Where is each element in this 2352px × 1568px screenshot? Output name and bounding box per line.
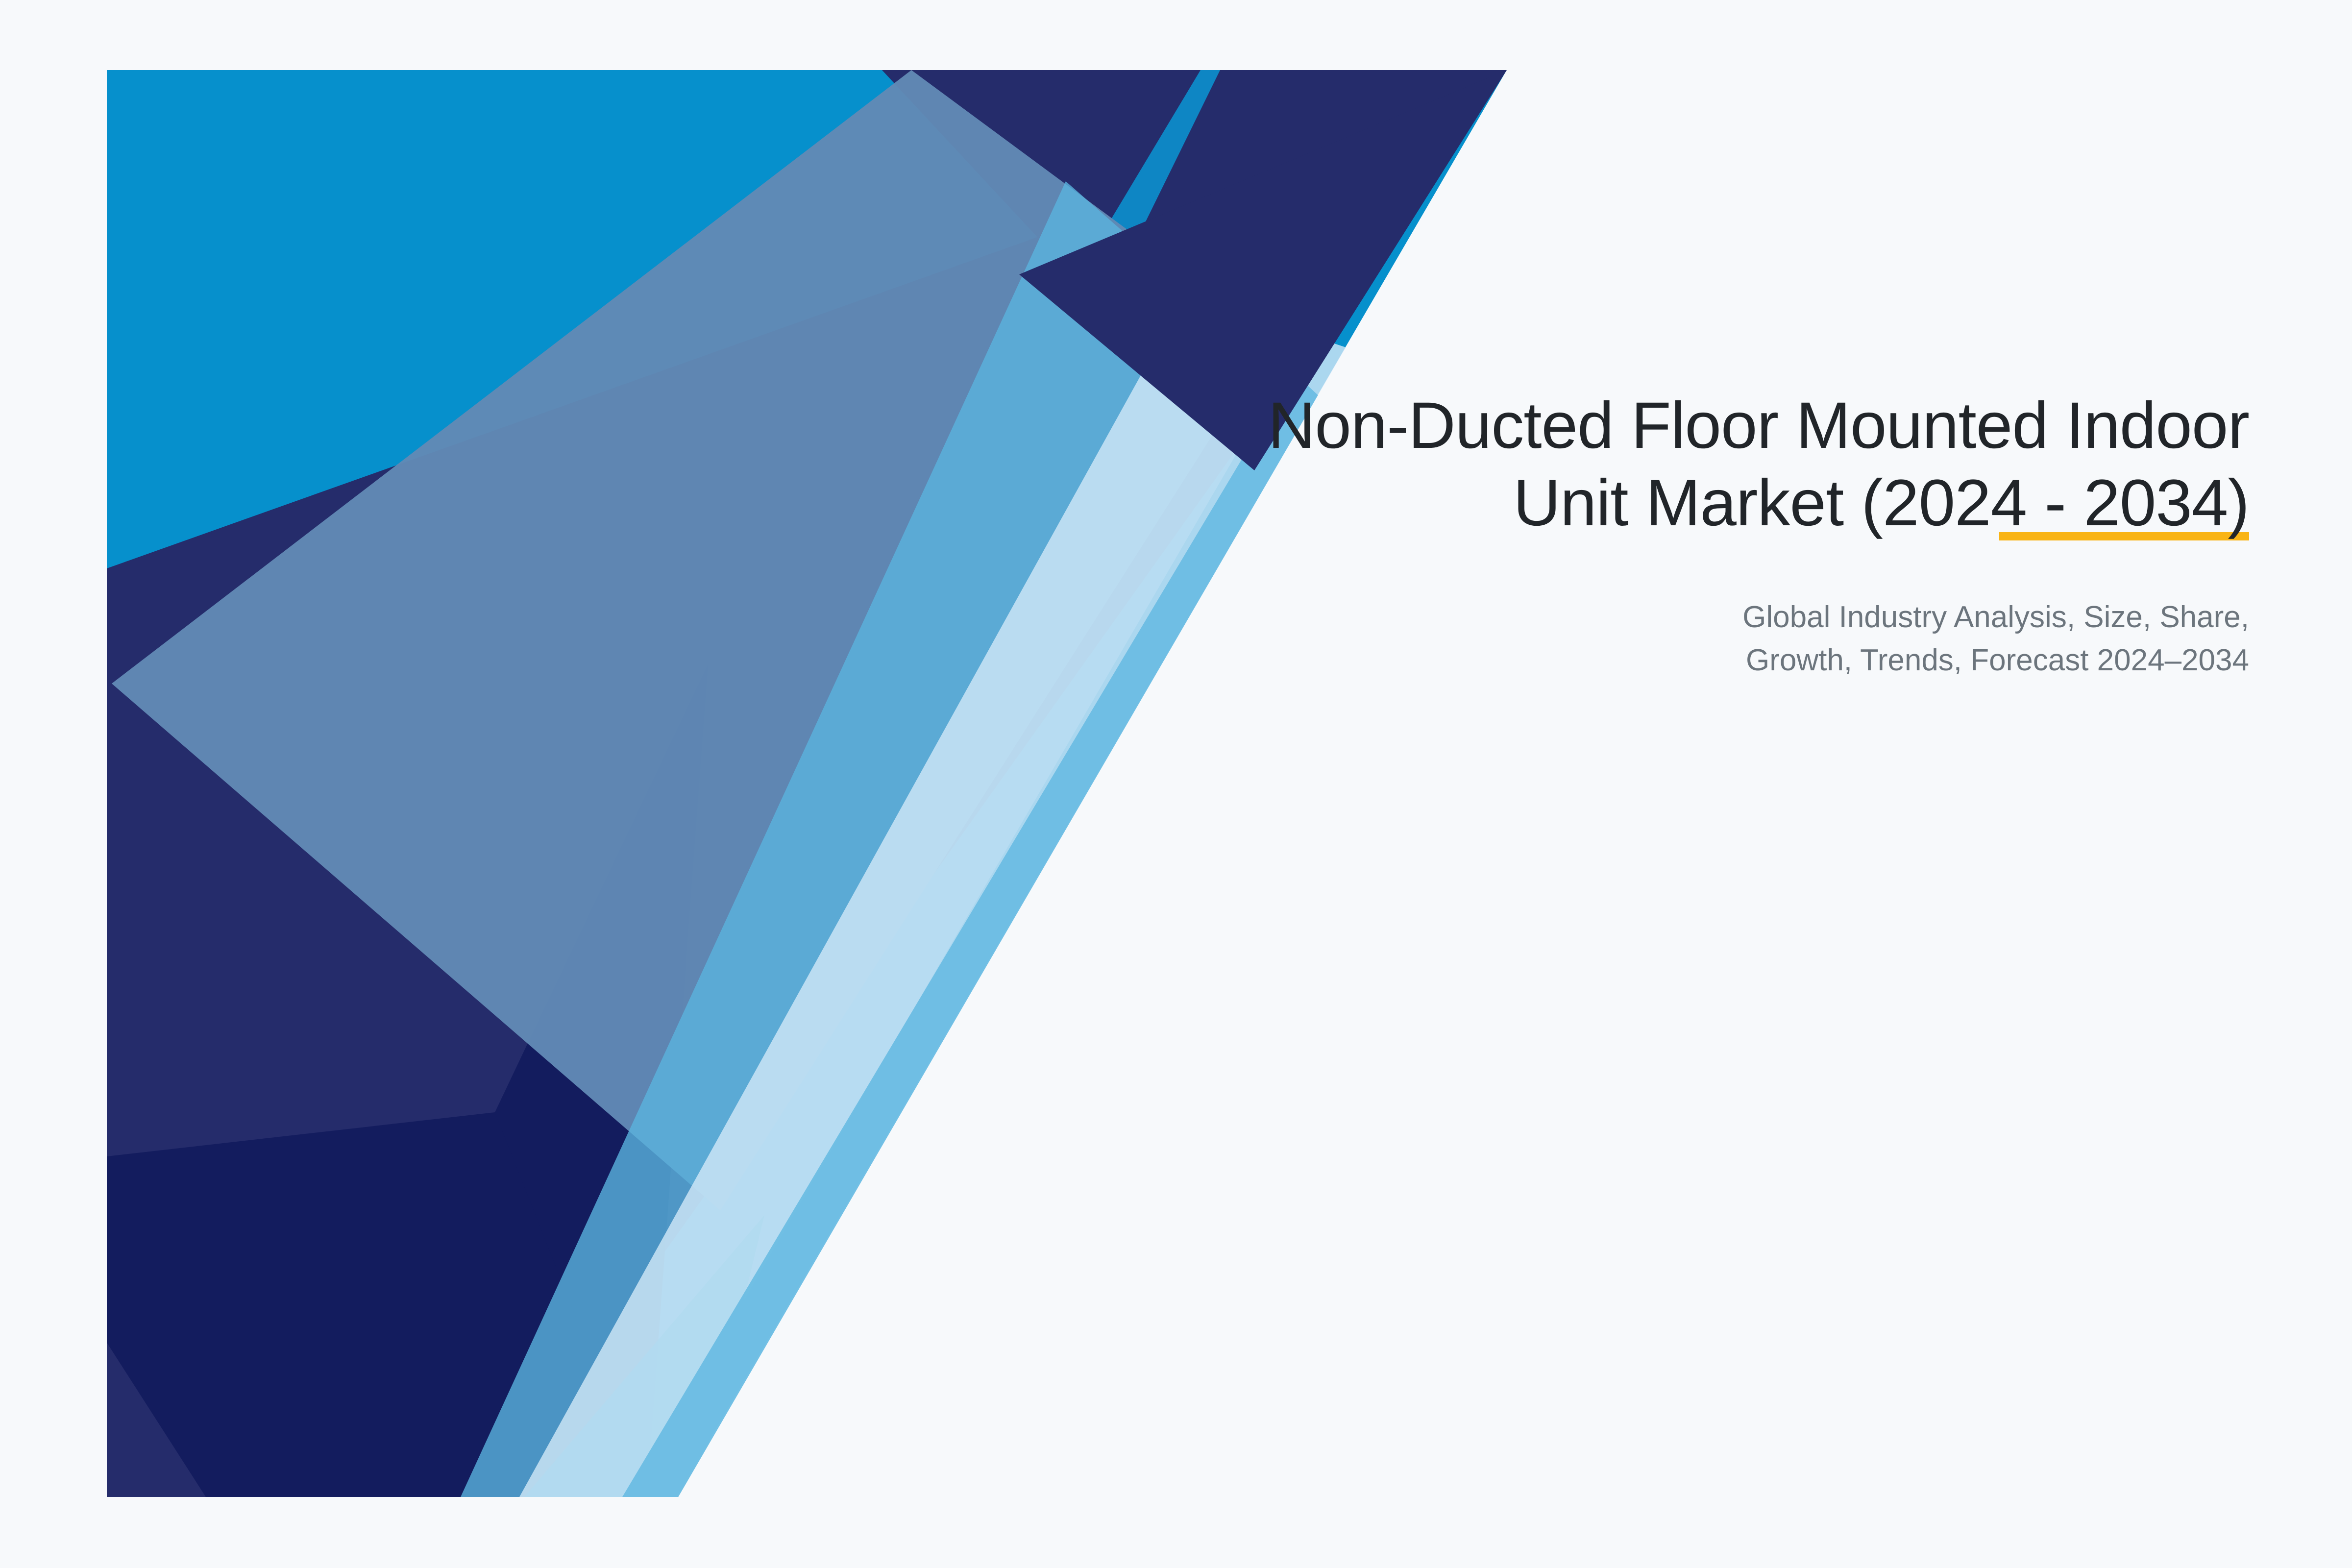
abstract-polygon-artwork [0,0,2352,1568]
page-title-line-1: Non-Ducted Floor Mounted Indoor [1268,389,2249,462]
cover-text-block: Non-Ducted Floor Mounted Indoor Unit Mar… [965,387,2249,682]
page-subtitle: Global Industry Analysis, Size, Share, G… [1612,542,2249,682]
report-cover-page: Non-Ducted Floor Mounted Indoor Unit Mar… [0,0,2352,1568]
page-subtitle-line-2: Growth, Trends, Forecast 2024–2034 [1746,643,2249,677]
page-subtitle-line-1: Global Industry Analysis, Size, Share, [1742,600,2249,634]
page-title-line-2: Unit Market (2024 - 2034) [1513,466,2249,539]
page-title: Non-Ducted Floor Mounted Indoor Unit Mar… [965,387,2249,542]
